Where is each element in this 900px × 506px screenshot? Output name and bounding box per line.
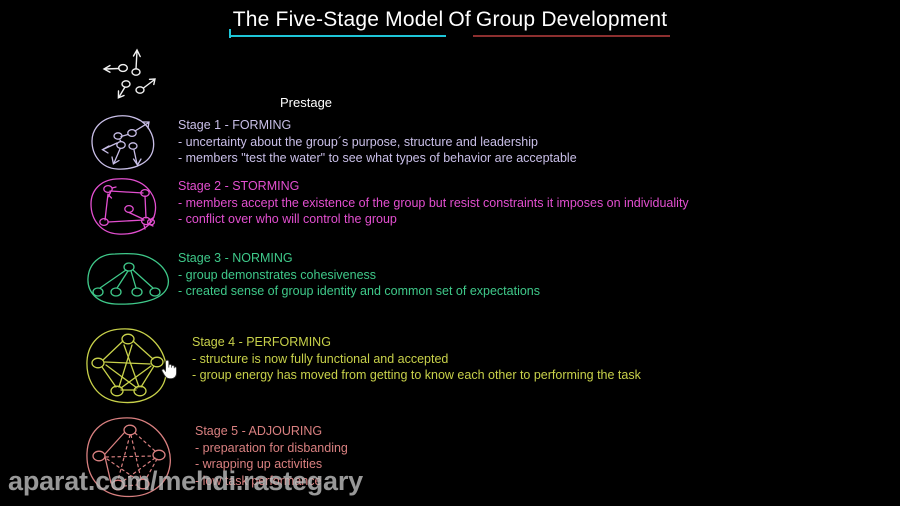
page-title: The Five-Stage ModelOfGroup Development: [0, 8, 900, 32]
stage1-forming-outward-arrows-diagram: [88, 112, 173, 172]
stage-2-bullet-1: - members accept the existence of the gr…: [178, 195, 689, 212]
stage-2-heading: Stage 2 - STORMING: [178, 178, 689, 195]
stage-3-heading: Stage 3 - NORMING: [178, 250, 540, 267]
stage-4-section: Stage 4 - PERFORMING - structure is now …: [83, 325, 843, 410]
stage-1-text-block: Stage 1 - FORMING - uncertainty about th…: [178, 117, 577, 167]
stage-2-bullet-2: - conflict over who will control the gro…: [178, 211, 689, 228]
stage-1-bullet-1: - uncertainty about the group´s purpose,…: [178, 134, 577, 151]
stage-1-section: Stage 1 - FORMING - uncertainty about th…: [88, 112, 848, 174]
stage-5-heading: Stage 5 - ADJOURING: [195, 423, 348, 440]
prestage-label: Prestage: [280, 95, 332, 110]
watermark-text: aparat.com/mehdi.rastegary: [8, 466, 363, 497]
stage2-storming-conflict-network-diagram: [88, 176, 173, 238]
stage-4-text-block: Stage 4 - PERFORMING - structure is now …: [192, 334, 641, 384]
prestage-section: Prestage: [90, 38, 850, 98]
stage-3-bullet-2: - created sense of group identity and co…: [178, 283, 540, 300]
stage-3-text-block: Stage 3 - NORMING - group demonstrates c…: [178, 250, 540, 300]
stage-5-bullet-1: - preparation for disbanding: [195, 440, 348, 457]
hand-pointer-cursor: [160, 358, 178, 380]
title-part-five-stage-model: The Five-Stage Model: [232, 8, 445, 32]
stage-1-bullet-2: - members "test the water" to see what t…: [178, 150, 577, 167]
stage-4-bullet-1: - structure is now fully functional and …: [192, 351, 641, 368]
prestage-scattered-nodes-diagram: [90, 38, 180, 100]
stage-2-text-block: Stage 2 - STORMING - members accept the …: [178, 178, 689, 228]
stage-4-heading: Stage 4 - PERFORMING: [192, 334, 641, 351]
stage-3-bullet-1: - group demonstrates cohesiveness: [178, 267, 540, 284]
stage-2-section: Stage 2 - STORMING - members accept the …: [88, 176, 848, 238]
slide-canvas: The Five-Stage ModelOfGroup Development: [0, 0, 900, 506]
stage3-norming-hierarchy-tree-diagram: [85, 248, 185, 310]
title-part-group-development: Group Development: [475, 8, 668, 32]
stage-3-section: Stage 3 - NORMING - group demonstrates c…: [85, 248, 845, 310]
stage-4-bullet-2: - group energy has moved from getting to…: [192, 367, 641, 384]
title-part-of: Of: [444, 8, 475, 32]
stage-1-heading: Stage 1 - FORMING: [178, 117, 577, 134]
